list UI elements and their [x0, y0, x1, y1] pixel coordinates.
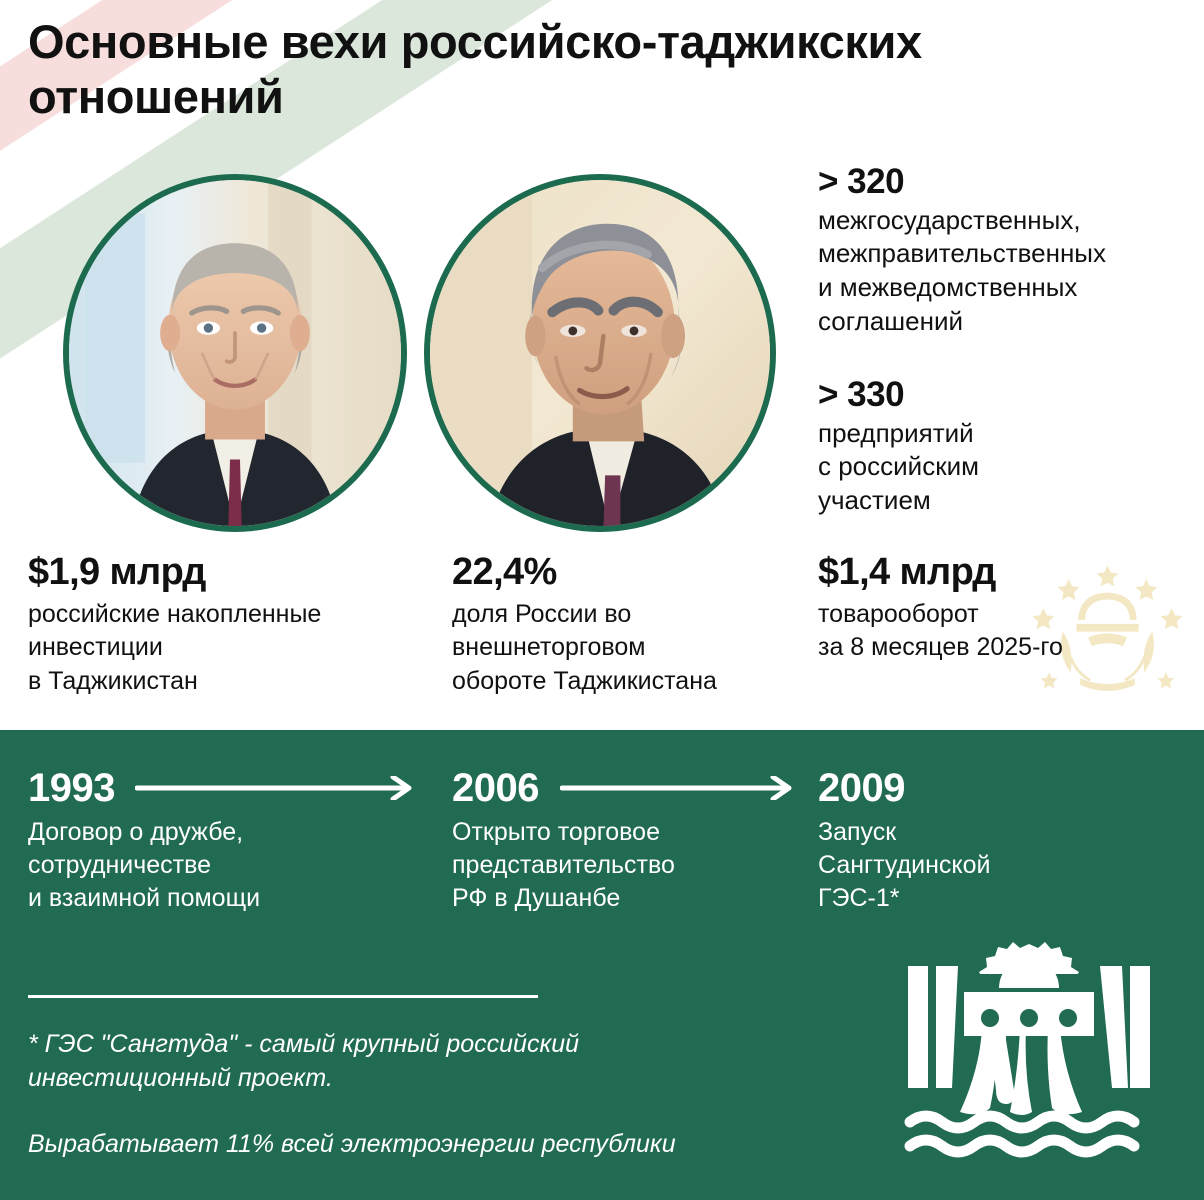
- timeline-text-1993: Договор о дружбе, сотрудничестве и взаим…: [28, 816, 428, 915]
- timeline-year-2009: 2009: [818, 768, 1178, 808]
- stat-agreements-label: межгосударственных, межправительственных…: [818, 204, 1198, 339]
- putin-portrait: [63, 174, 407, 532]
- stat-trade-share-value: 22,4%: [452, 553, 812, 593]
- stat-investments-label: российские накопленные инвестиции в Тадж…: [28, 598, 448, 699]
- timeline-text-2009: Запуск Сангтудинской ГЭС-1*: [818, 816, 1178, 915]
- right-arrow-icon-2: [560, 776, 800, 800]
- stat-investments-value: $1,9 млрд: [28, 553, 448, 593]
- timeline-item-2009: 2009 Запуск Сангтудинской ГЭС-1*: [818, 768, 1178, 915]
- rahmon-portrait: [424, 174, 776, 532]
- stat-turnover: $1,4 млрд товарооборот за 8 месяцев 2025…: [818, 553, 1204, 665]
- stat-trade-share-label: доля России во внешнеторговом обороте Та…: [452, 598, 812, 699]
- hydroelectric-dam-icon: [898, 930, 1160, 1175]
- footnote-divider: [28, 995, 538, 998]
- stat-agreements: > 320 межгосударственных, межправительст…: [818, 163, 1198, 339]
- footnote-1: * ГЭС "Сангтуда" - самый крупный российс…: [28, 1027, 768, 1095]
- infographic-canvas: Основные вехи российско-таджикских отнош…: [0, 0, 1204, 1200]
- footnote-2: Вырабатывает 11% всей электроэнергии рес…: [28, 1127, 768, 1161]
- right-arrow-icon-1: [135, 776, 420, 800]
- stat-trade-share: 22,4% доля России во внешнеторговом обор…: [452, 553, 812, 698]
- stat-investments: $1,9 млрд российские накопленные инвести…: [28, 553, 448, 698]
- timeline-text-2006: Открыто торговое представительство РФ в …: [452, 816, 802, 915]
- stat-turnover-label: товарооборот за 8 месяцев 2025-го: [818, 598, 1204, 665]
- stat-enterprises: > 330 предприятий с российским участием: [818, 376, 1198, 518]
- stat-enterprises-value: > 330: [818, 376, 1198, 415]
- page-title: Основные вехи российско-таджикских отнош…: [28, 14, 1178, 125]
- stat-enterprises-label: предприятий с российским участием: [818, 417, 1198, 518]
- timeline-panel: 1993 Договор о дружбе, сотрудничестве и …: [0, 730, 1204, 1200]
- stat-turnover-value: $1,4 млрд: [818, 553, 1204, 593]
- stat-agreements-value: > 320: [818, 163, 1198, 202]
